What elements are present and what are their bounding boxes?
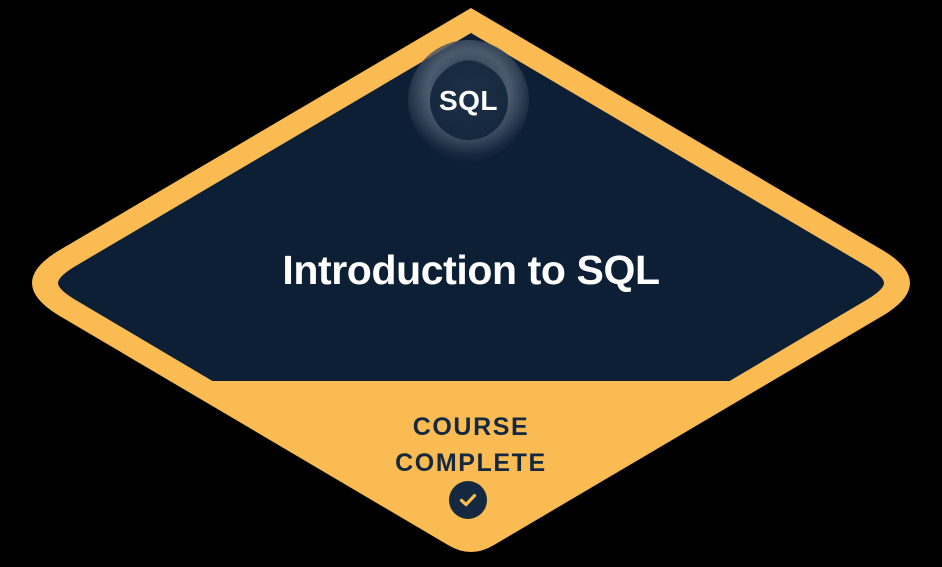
completion-line-2: COMPLETE xyxy=(0,445,942,481)
check-mark-icon xyxy=(456,488,480,512)
completion-status: COURSE COMPLETE xyxy=(0,409,942,481)
sql-emblem-label: SQL xyxy=(439,87,498,115)
completion-line-1: COURSE xyxy=(0,409,942,445)
completion-check-badge xyxy=(449,481,487,519)
sql-emblem-icon: SQL xyxy=(408,40,529,161)
course-title: Introduction to SQL xyxy=(0,244,942,296)
sql-emblem-core: SQL xyxy=(430,62,508,140)
course-completion-badge: SQL Introduction to SQL COURSE COMPLETE xyxy=(0,0,942,567)
